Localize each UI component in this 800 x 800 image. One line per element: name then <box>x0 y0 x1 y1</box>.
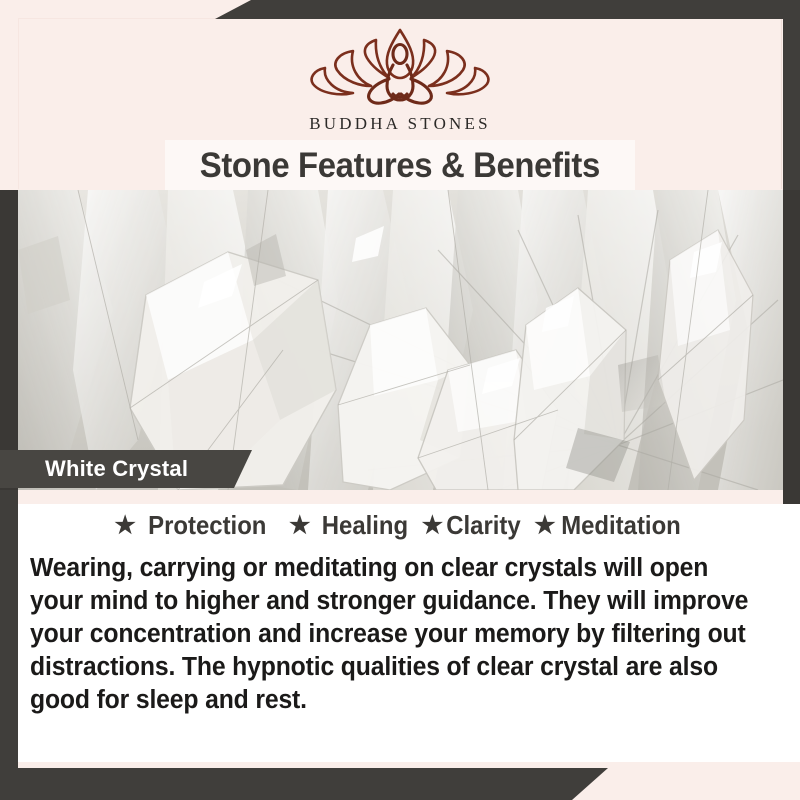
photo-caption-banner: White Crystal <box>0 450 252 488</box>
benefit-label: Healing <box>321 510 407 541</box>
photo-caption-label: White Crystal <box>45 456 188 482</box>
benefit-label: Meditation <box>561 510 681 541</box>
benefit-item-healing: ★ Healing <box>289 510 412 541</box>
benefit-label: Protection <box>148 510 266 541</box>
photo-left-rail <box>0 190 18 490</box>
stone-features-poster: BUDDHA STONES Stone Features & Benefits <box>0 0 800 800</box>
content-top-strip <box>0 490 800 504</box>
brand-name: BUDDHA STONES <box>0 114 800 134</box>
benefits-row: ★ Protection ★ Healing★Clarity★Meditatio… <box>0 510 800 541</box>
title-plate: Stone Features & Benefits <box>165 140 635 192</box>
bottom-left-rail <box>0 490 18 768</box>
star-icon: ★ <box>422 512 444 539</box>
benefit-label: Clarity <box>446 510 520 541</box>
crystal-photo-artwork <box>18 190 783 490</box>
page-title: Stone Features & Benefits <box>200 146 600 186</box>
photo-band <box>0 190 800 490</box>
white-crystal-cluster-photo <box>18 190 783 490</box>
bottom-decorative-band <box>0 768 608 800</box>
photo-right-rail <box>783 190 800 490</box>
lotus-meditation-figure-icon <box>309 24 491 112</box>
brand-logo-block: BUDDHA STONES <box>0 24 800 134</box>
description-paragraph: Wearing, carrying or meditating on clear… <box>30 552 750 717</box>
star-icon: ★ <box>114 512 136 539</box>
benefit-item-clarity: ★Clarity <box>422 510 524 541</box>
content-area: ★ Protection ★ Healing★Clarity★Meditatio… <box>0 490 800 800</box>
top-decorative-band <box>215 0 800 19</box>
benefit-item-meditation: ★Meditation <box>534 510 686 541</box>
star-icon: ★ <box>534 512 556 539</box>
star-icon: ★ <box>289 512 311 539</box>
content-right-rail <box>783 490 800 504</box>
benefit-item-protection: ★ Protection <box>114 510 271 541</box>
